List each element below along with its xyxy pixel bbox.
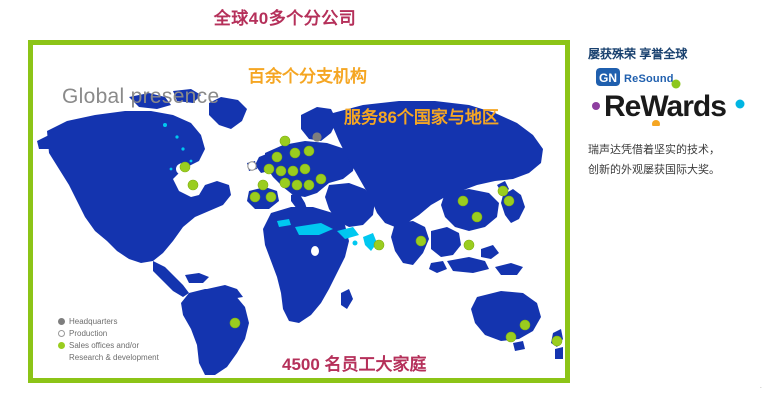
legend-label-headquarters: Headquarters — [69, 316, 117, 327]
map-legend: Headquarters Production Sales offices an… — [58, 316, 159, 363]
map-watermark-label: Global presence — [62, 85, 219, 109]
gn-resound-rewards-logo: GN ReSound ReWards — [590, 68, 765, 126]
svg-text:ReWards: ReWards — [604, 90, 726, 123]
callout-countries: 服务86个国家与地区 — [344, 103, 499, 128]
right-info-panel: 屡获殊荣 享誉全球 GN ReSound ReWards 瑞声达凭借 — [586, 40, 778, 383]
panel-body-line-1: 瑞声达凭借着坚实的技术， — [588, 140, 774, 160]
panel-heading: 屡获殊荣 享誉全球 — [588, 45, 687, 62]
svg-text:ReSound: ReSound — [624, 73, 674, 85]
legend-item-production: Production — [58, 328, 159, 339]
slide-canvas: 全球40多个分公司 — [0, 0, 778, 402]
legend-dot-production-icon — [58, 330, 65, 337]
panel-body-line-2: 创新的外观屡获国际大奖。 — [588, 160, 774, 180]
svg-text:GN: GN — [599, 71, 617, 85]
legend-item-headquarters: Headquarters — [58, 316, 159, 327]
panel-body-text: 瑞声达凭借着坚实的技术， 创新的外观屡获国际大奖。 — [588, 140, 774, 180]
legend-item-sales: Sales offices and/or — [58, 340, 159, 351]
legend-label-sales-line1: Sales offices and/or — [69, 341, 139, 350]
legend-dot-headquarters-icon — [58, 318, 65, 325]
page-mark: . — [760, 381, 762, 390]
callout-branches: 百余个分支机构 — [248, 62, 367, 87]
callout-employees: 4500 名员工大家庭 — [282, 350, 427, 375]
legend-label-sales-line2: Research & development — [58, 352, 159, 363]
gn-logo-mark: GN — [596, 68, 620, 86]
legend-label-production: Production — [69, 328, 107, 339]
page-title: 全球40多个分公司 — [0, 4, 570, 29]
legend-dot-sales-icon — [58, 342, 65, 349]
